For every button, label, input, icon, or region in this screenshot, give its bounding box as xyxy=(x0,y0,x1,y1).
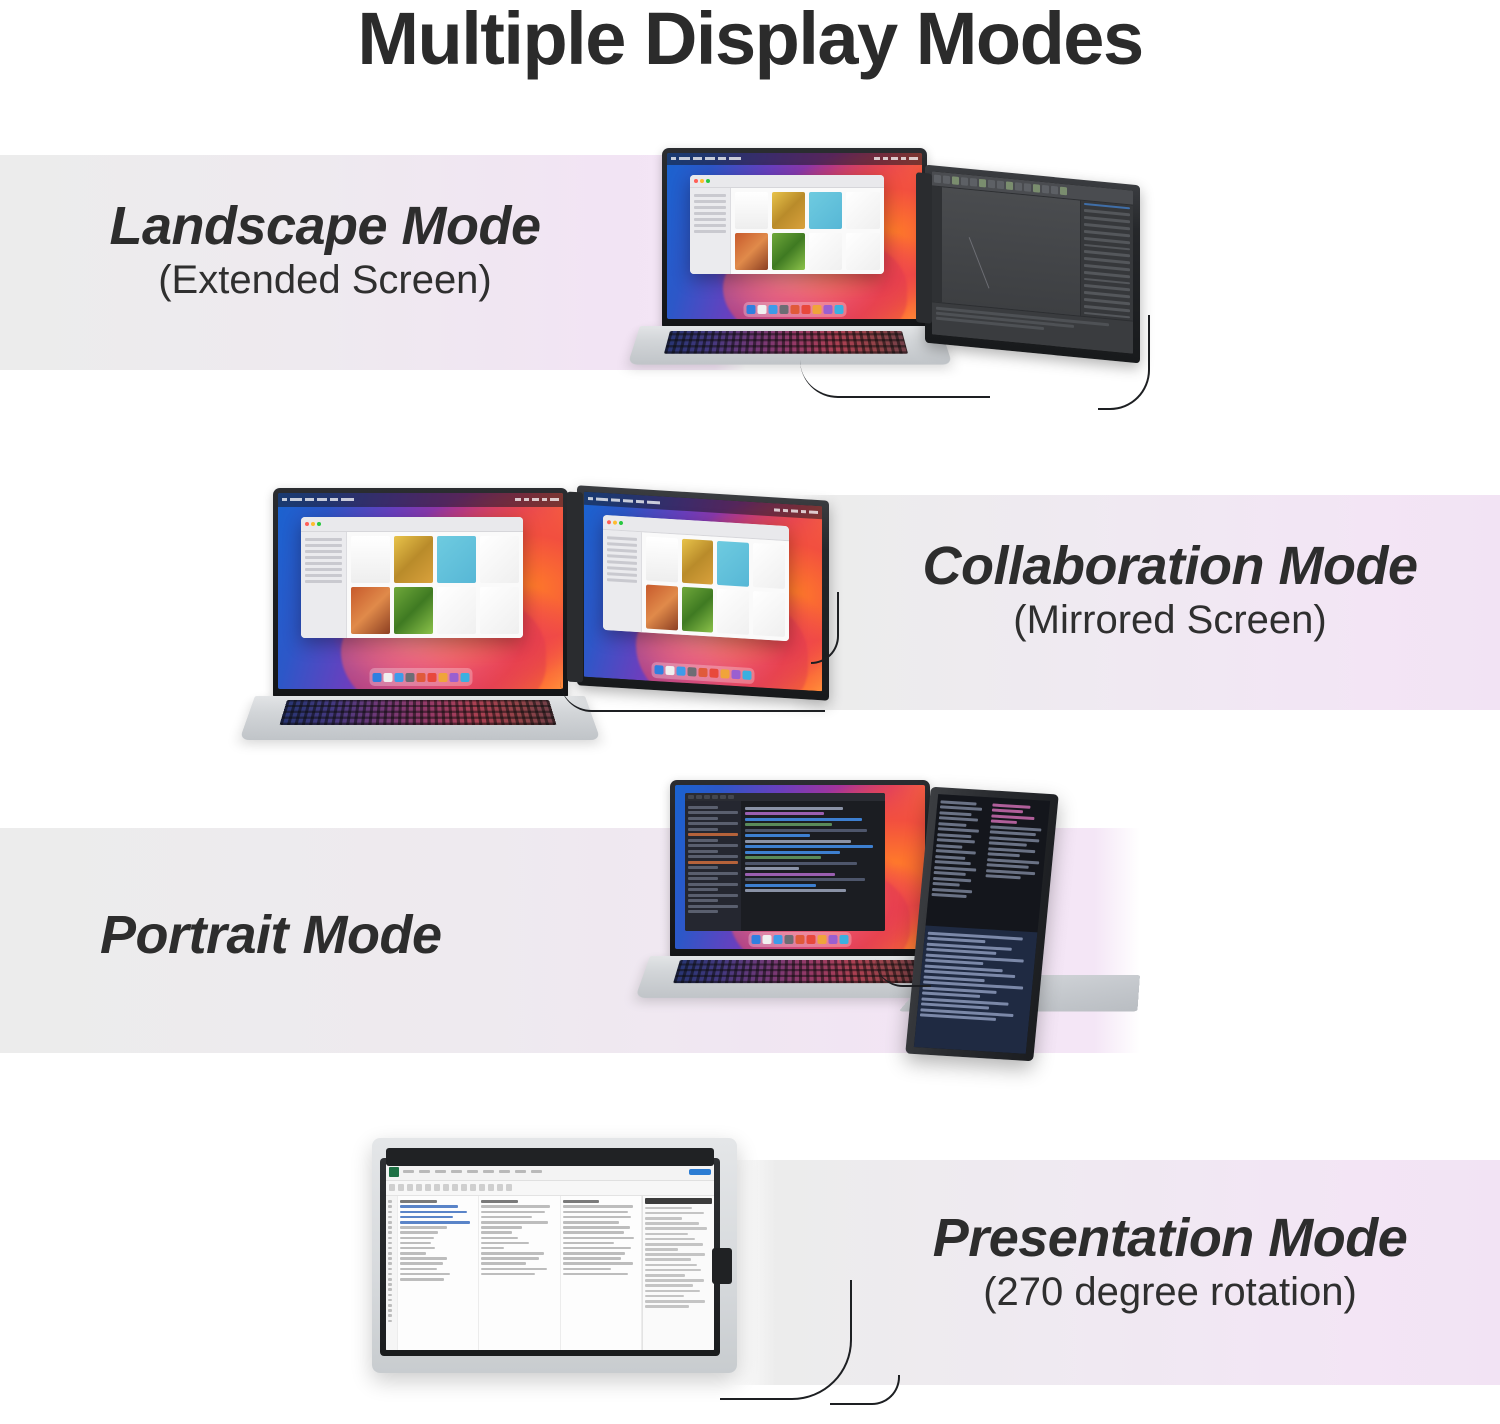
window-traffic-lights[interactable] xyxy=(607,520,623,525)
menubar-status-items xyxy=(774,508,818,514)
file-item[interactable] xyxy=(437,536,476,583)
file-item[interactable] xyxy=(480,587,519,634)
file-item[interactable] xyxy=(772,233,805,270)
file-item[interactable] xyxy=(753,591,785,637)
macbook-lid xyxy=(273,488,568,698)
monitor-screen-flipped xyxy=(386,1164,714,1350)
finder-window-mirrored[interactable] xyxy=(603,515,789,641)
mode-title-landscape: Landscape Mode xyxy=(45,196,605,256)
spreadsheet-menubar[interactable] xyxy=(403,1170,685,1173)
file-item[interactable] xyxy=(480,536,519,583)
macbook-collaboration xyxy=(255,480,585,745)
finder-body xyxy=(690,188,884,275)
spreadsheet-titlebar[interactable] xyxy=(386,1164,714,1181)
3d-viewport[interactable] xyxy=(942,187,1081,316)
window-traffic-lights[interactable] xyxy=(694,179,710,183)
scene-collaboration xyxy=(255,480,875,755)
file-item[interactable] xyxy=(717,589,749,635)
file-item[interactable] xyxy=(437,587,476,634)
spreadsheet-column[interactable] xyxy=(561,1196,642,1350)
menubar-left-items xyxy=(588,497,660,504)
usb-c-cable xyxy=(560,680,825,712)
file-item[interactable] xyxy=(351,587,390,634)
finder-sidebar[interactable] xyxy=(690,188,731,275)
menubar-status-items xyxy=(515,498,559,501)
page-title: Multiple Display Modes xyxy=(0,2,1500,76)
macos-dock[interactable] xyxy=(749,932,852,947)
spreadsheet-column[interactable] xyxy=(479,1196,560,1350)
file-item[interactable] xyxy=(735,192,768,229)
file-item[interactable] xyxy=(646,584,678,630)
file-item[interactable] xyxy=(809,192,842,229)
portable-monitor-portrait xyxy=(905,787,1059,1062)
portable-monitor-flipped xyxy=(380,1158,720,1356)
macbook-keyboard[interactable] xyxy=(279,700,556,725)
macbook-keyboard[interactable] xyxy=(664,331,908,354)
spreadsheet-toolbar[interactable] xyxy=(386,1181,714,1196)
file-item[interactable] xyxy=(753,543,785,589)
window-traffic-lights[interactable] xyxy=(305,522,321,526)
macbook-screen xyxy=(675,785,925,949)
sidebar-header xyxy=(645,1198,712,1204)
monitor-hinge xyxy=(916,172,932,324)
finder-file-grid[interactable] xyxy=(347,532,523,638)
file-item[interactable] xyxy=(682,587,714,633)
file-item[interactable] xyxy=(809,233,842,270)
macbook-screen xyxy=(667,153,922,319)
menubar-status-items xyxy=(874,157,918,160)
file-item[interactable] xyxy=(682,539,714,585)
file-item[interactable] xyxy=(846,192,879,229)
code-editor-pane[interactable] xyxy=(741,801,885,931)
file-item[interactable] xyxy=(846,233,879,270)
mode-block-collaboration: Collaboration Mode (Mirrored Screen) xyxy=(860,536,1480,644)
finder-sidebar[interactable] xyxy=(301,532,348,638)
code-panel-top[interactable] xyxy=(926,794,1051,932)
function-help-sidebar[interactable] xyxy=(642,1196,714,1350)
usb-c-cable xyxy=(830,1375,900,1405)
macbook-landscape xyxy=(640,145,950,375)
portable-monitor-mirrored xyxy=(577,485,829,700)
file-item[interactable] xyxy=(735,233,768,270)
spreadsheet-column[interactable] xyxy=(398,1196,479,1350)
macbook-lid xyxy=(662,148,927,328)
file-item[interactable] xyxy=(717,541,749,587)
3d-app-workspace xyxy=(932,186,1133,321)
monitor-screen-portrait xyxy=(914,794,1050,1054)
macos-menubar xyxy=(667,153,922,165)
macos-dock[interactable] xyxy=(743,302,846,317)
file-item[interactable] xyxy=(772,192,805,229)
finder-toolbar[interactable] xyxy=(301,517,523,533)
file-item[interactable] xyxy=(351,536,390,583)
spreadsheet-columns[interactable] xyxy=(398,1196,642,1350)
account-button[interactable] xyxy=(689,1169,711,1175)
monitor-top-bar xyxy=(386,1148,714,1166)
finder-file-grid[interactable] xyxy=(731,188,884,275)
finder-body xyxy=(603,530,789,641)
finder-file-grid[interactable] xyxy=(642,532,789,641)
file-item[interactable] xyxy=(394,536,433,583)
mode-block-portrait: Portrait Mode xyxy=(100,905,620,965)
file-item[interactable] xyxy=(646,537,678,583)
code-file-explorer[interactable] xyxy=(685,801,741,931)
3d-app-properties-panel[interactable] xyxy=(1081,200,1133,321)
code-text-pane[interactable] xyxy=(977,797,1050,932)
mode-subtitle-landscape: (Extended Screen) xyxy=(45,256,605,304)
monitor-port-block xyxy=(712,1248,732,1284)
mode-subtitle-presentation: (270 degree rotation) xyxy=(860,1268,1480,1316)
macos-dock[interactable] xyxy=(369,668,472,686)
usb-c-cable xyxy=(800,360,990,398)
mode-block-presentation: Presentation Mode (270 degree rotation) xyxy=(860,1208,1480,1316)
finder-sidebar[interactable] xyxy=(603,530,642,632)
code-editor-body xyxy=(685,801,885,931)
code-editor-window[interactable] xyxy=(685,793,885,931)
3d-app-tool-strip[interactable] xyxy=(932,186,942,303)
mode-title-presentation: Presentation Mode xyxy=(860,1208,1480,1268)
spreadsheet-app-icon xyxy=(389,1167,399,1177)
file-item[interactable] xyxy=(394,587,433,634)
scene-portrait xyxy=(620,770,1200,1070)
scene-landscape xyxy=(600,145,1200,435)
finder-body xyxy=(301,532,523,638)
mode-title-collaboration: Collaboration Mode xyxy=(860,536,1480,596)
finder-toolbar[interactable] xyxy=(690,175,884,188)
code-panel-bottom[interactable] xyxy=(914,926,1038,1054)
finder-window[interactable] xyxy=(301,517,523,639)
finder-window[interactable] xyxy=(690,175,884,275)
scene-presentation xyxy=(360,1130,780,1420)
macbook-lid xyxy=(670,780,930,958)
monitor-screen xyxy=(584,492,822,692)
infographic-page: Multiple Display Modes Landscape Mode (E… xyxy=(0,0,1500,1424)
mode-block-landscape: Landscape Mode (Extended Screen) xyxy=(45,196,605,304)
macos-menubar xyxy=(278,493,563,507)
code-editor-tabs[interactable] xyxy=(685,793,885,801)
mode-title-portrait: Portrait Mode xyxy=(100,905,620,965)
menubar-left-items xyxy=(671,157,741,160)
usb-c-cable xyxy=(811,592,839,664)
macbook-screen xyxy=(278,493,563,689)
row-number-gutter xyxy=(386,1196,398,1350)
monitor-hinge xyxy=(567,492,583,683)
spreadsheet-grid[interactable] xyxy=(386,1196,714,1350)
mode-subtitle-collaboration: (Mirrored Screen) xyxy=(860,596,1480,644)
menubar-left-items xyxy=(282,498,354,501)
spreadsheet-app xyxy=(386,1164,714,1350)
usb-c-cable xyxy=(1098,315,1150,410)
